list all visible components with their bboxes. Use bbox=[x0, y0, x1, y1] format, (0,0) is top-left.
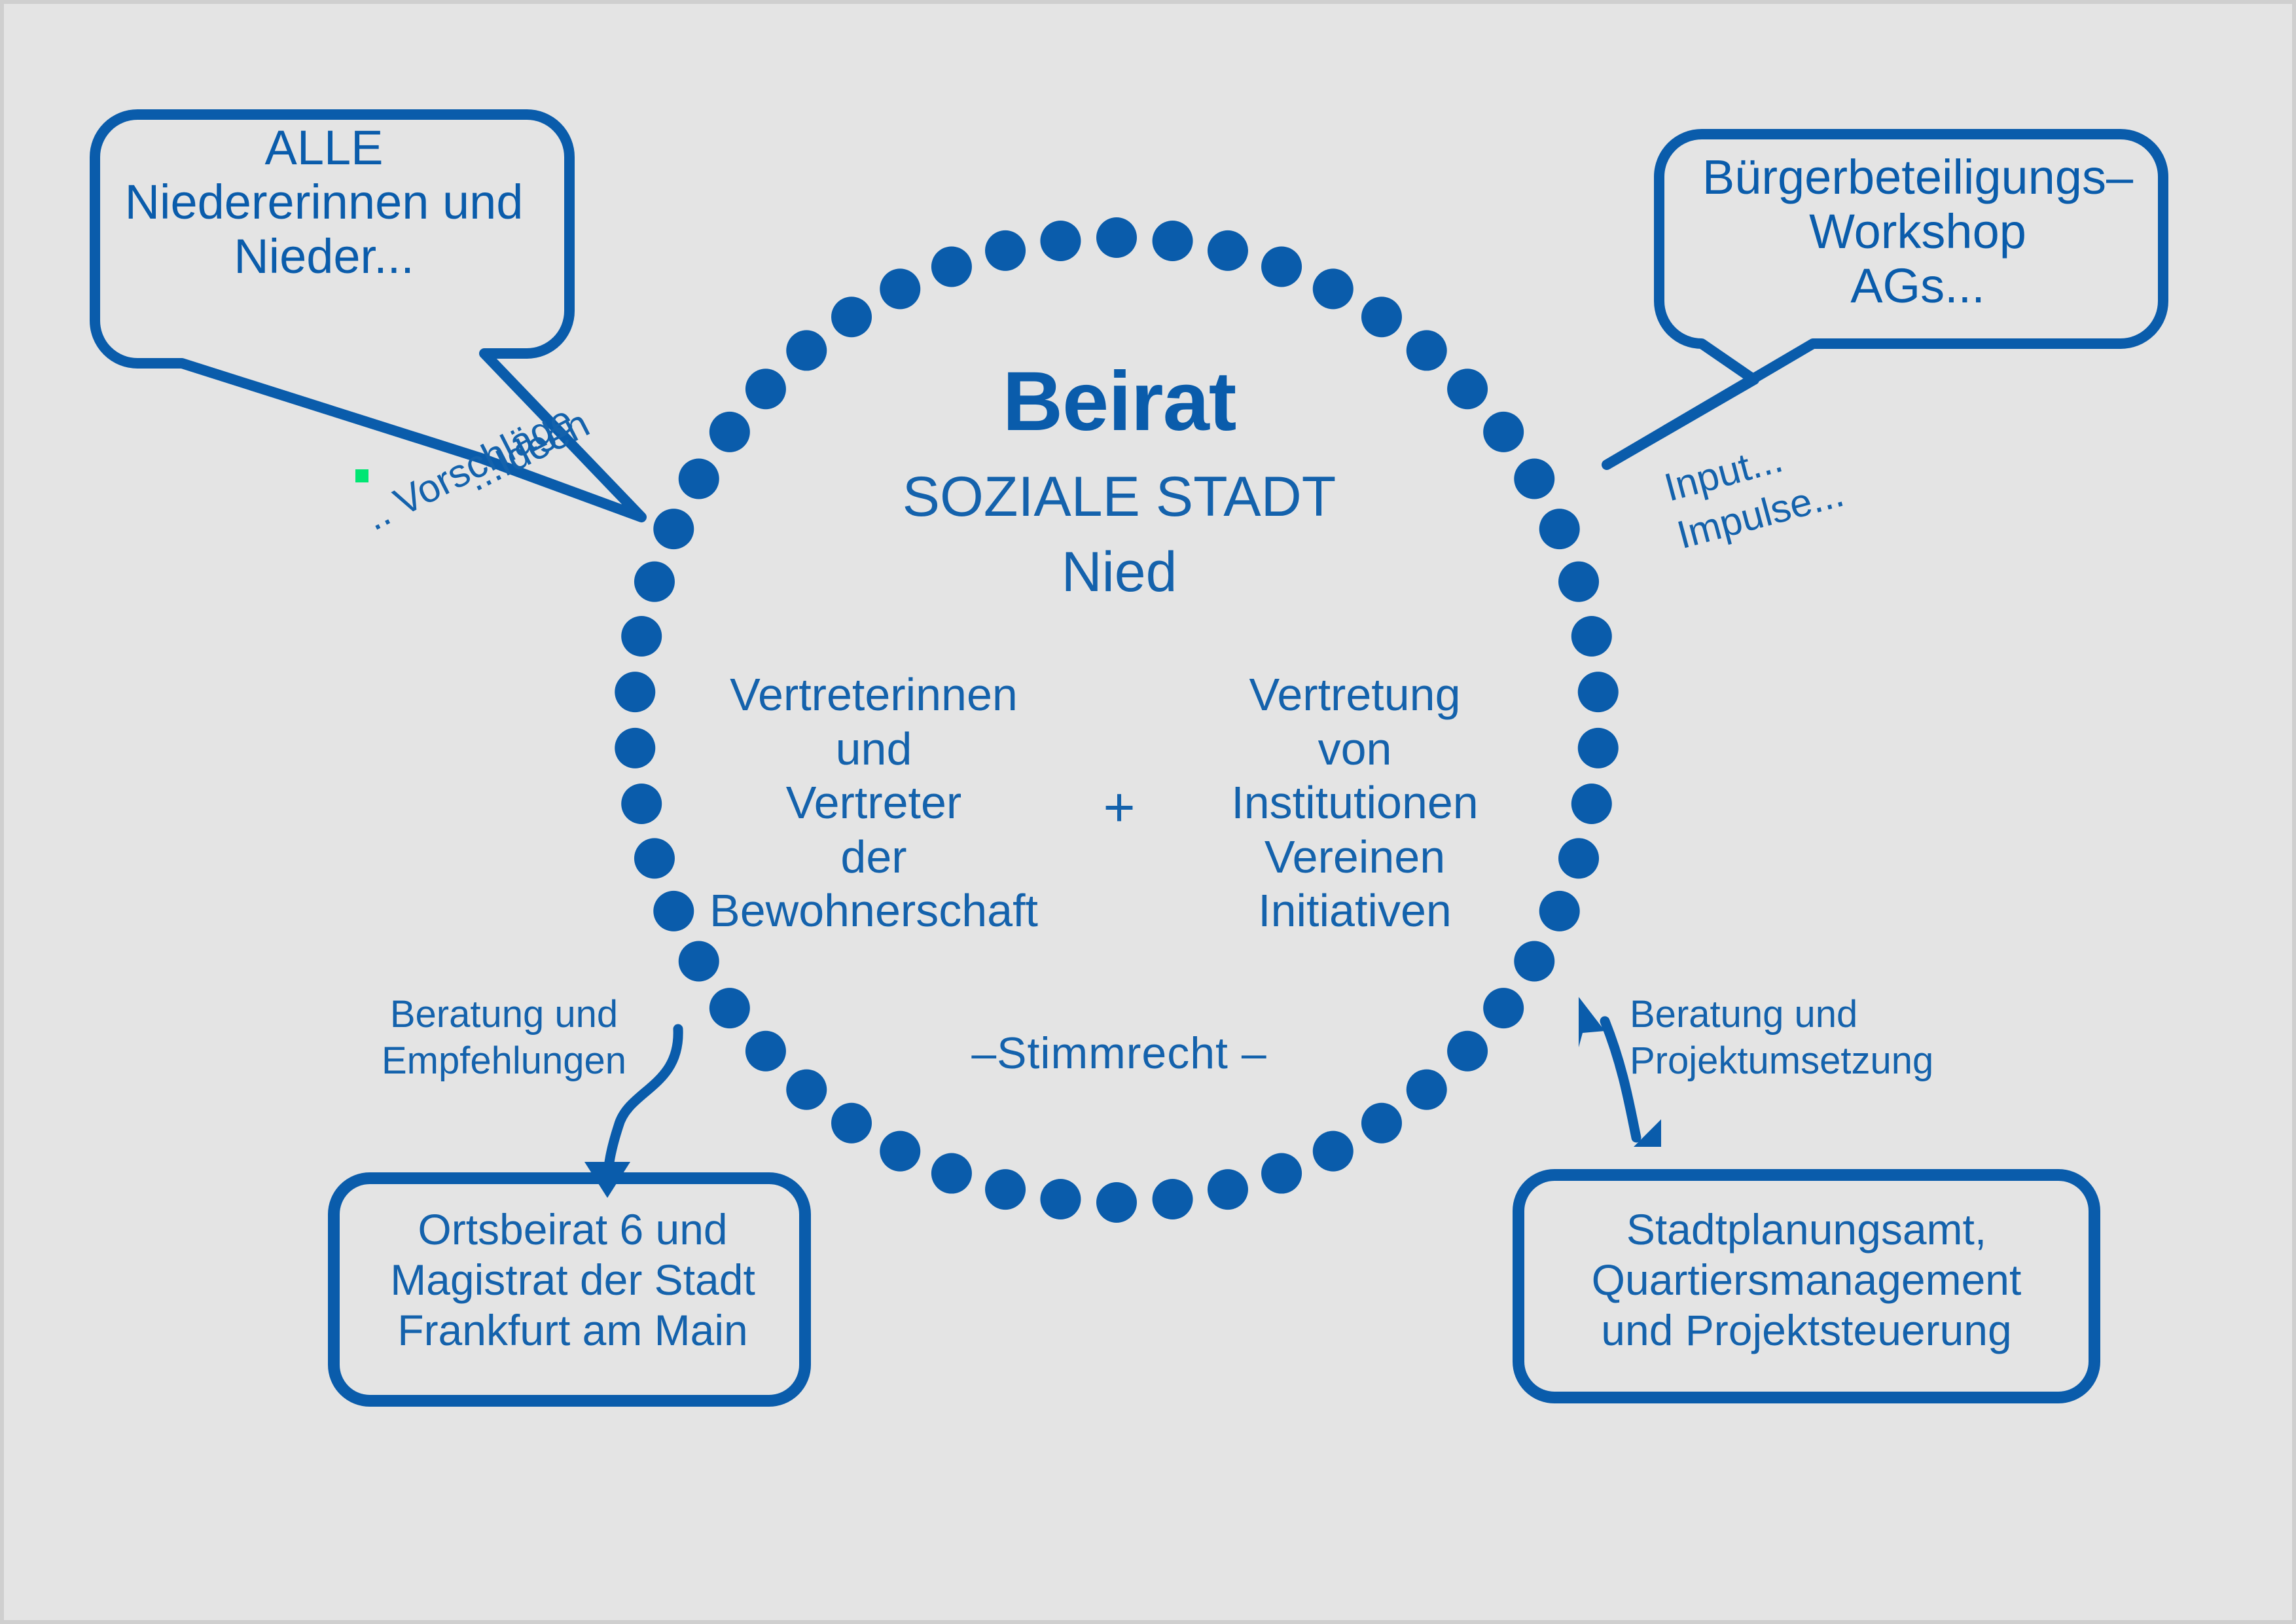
center-footer-stimmrecht: –Stimmrecht – bbox=[903, 1028, 1335, 1079]
double-arrow-down-head-icon bbox=[1634, 1119, 1661, 1147]
center-subtitle-line2: Nied bbox=[772, 540, 1466, 605]
box-bottom-right-text: Stadtplanungsamt, Quartiersmanagement un… bbox=[1518, 1204, 2094, 1356]
arrow-down-head-icon bbox=[584, 1162, 630, 1198]
annotation-beratung-projektumsetzung: Beratung und Projektumsetzung bbox=[1630, 992, 1964, 1085]
diagram-canvas: ALLE Niedererinnen und Nieder... Bürgerb… bbox=[0, 0, 2296, 1624]
center-column-left: Vertreterinnen und Vertreter der Bewohne… bbox=[697, 668, 1050, 938]
annotation-beratung-empfehlungen: Beratung und Empfehlungen bbox=[367, 992, 641, 1085]
center-column-right: Vertretung von Institutionen Vereinen In… bbox=[1185, 668, 1525, 938]
bubble-top-left-text: ALLE Niedererinnen und Nieder... bbox=[92, 121, 556, 284]
center-plus-sign: + bbox=[1073, 776, 1165, 839]
center-subtitle-line1: SOZIALE STADT bbox=[772, 465, 1466, 530]
bubble-top-right-text: Bürgerbeteiligungs– Workshop AGs... bbox=[1682, 151, 2153, 314]
box-bottom-left-text: Ortsbeirat 6 und Magistrat der Stadt Fra… bbox=[334, 1204, 812, 1356]
center-title: Beirat bbox=[785, 353, 1453, 450]
double-arrow-up-head-icon bbox=[1579, 997, 1605, 1047]
green-dot-icon bbox=[355, 469, 368, 482]
annotation-input-impulse: Input... Impulse... bbox=[1659, 421, 1849, 560]
